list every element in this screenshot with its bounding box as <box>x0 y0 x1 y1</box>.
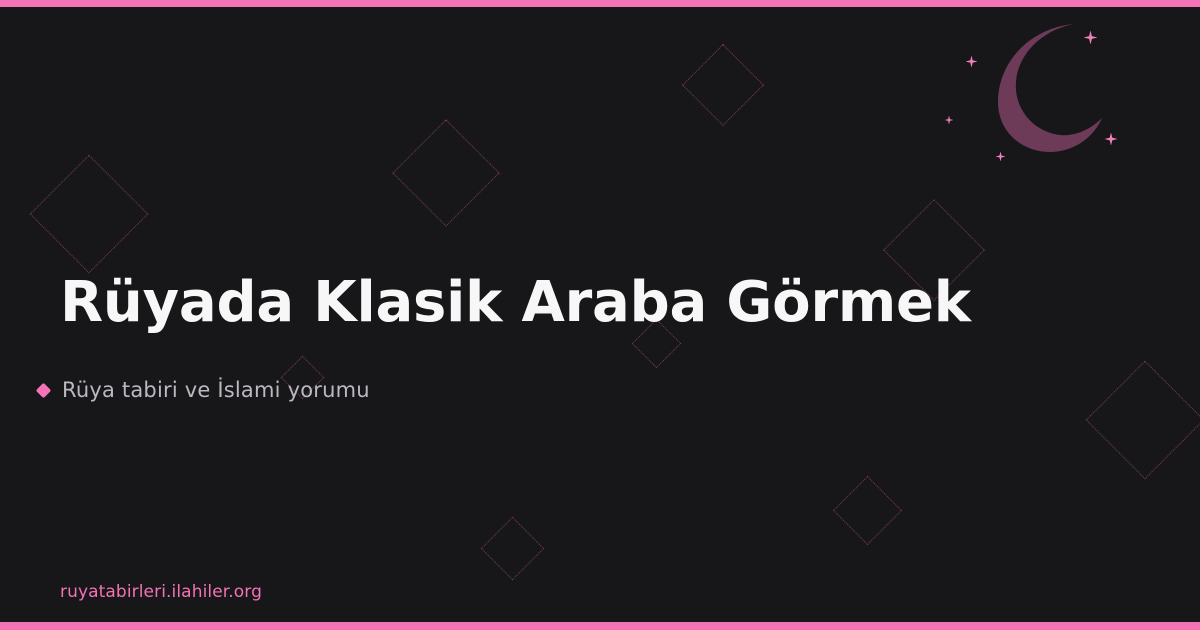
og-card: Rüyada Klasik Araba Görmek Rüya tabiri v… <box>0 0 1200 630</box>
diamond-bullet-icon <box>36 382 52 398</box>
subtitle-row: Rüya tabiri ve İslami yorumu <box>38 378 370 402</box>
subtitle-text: Rüya tabiri ve İslami yorumu <box>62 378 370 402</box>
site-url: ruyatabirleri.ilahiler.org <box>60 582 262 602</box>
card-content: Rüyada Klasik Araba Görmek Rüya tabiri v… <box>0 0 1200 630</box>
page-title: Rüyada Klasik Araba Görmek <box>60 272 1140 335</box>
